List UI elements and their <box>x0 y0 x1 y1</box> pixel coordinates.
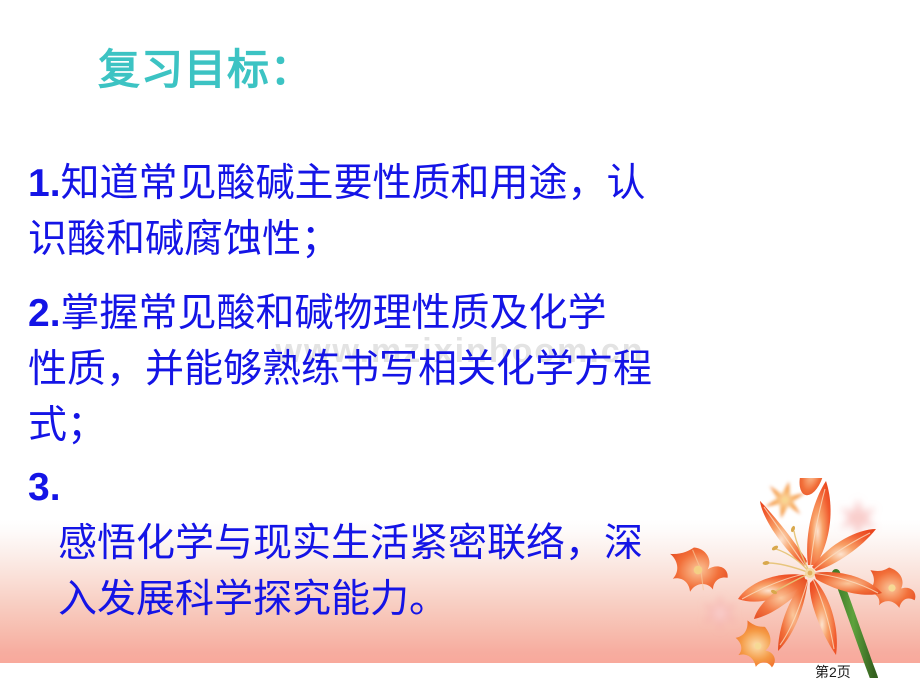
petal-fragment-top <box>795 478 830 498</box>
page-title: 复习目标： <box>98 36 313 97</box>
small-flower-top <box>764 478 807 522</box>
slide-canvas: www.mzixinhoom.cn 复习目标： 1.知道常见酸碱主要性质和用途，… <box>0 0 920 690</box>
goal-text-3: 感悟化学与现实生活紧密联络，深 入发展科学探究能力。 <box>28 516 643 628</box>
goal-item-3: 3.感悟化学与现实生活紧密联络，深 入发展科学探究能力。 <box>28 404 643 684</box>
page-number-label: 第2页 <box>815 662 851 682</box>
goal-number-1: 1. <box>28 162 61 205</box>
goal-number-3: 3. <box>28 466 61 509</box>
goal-number-2: 2. <box>28 292 61 335</box>
